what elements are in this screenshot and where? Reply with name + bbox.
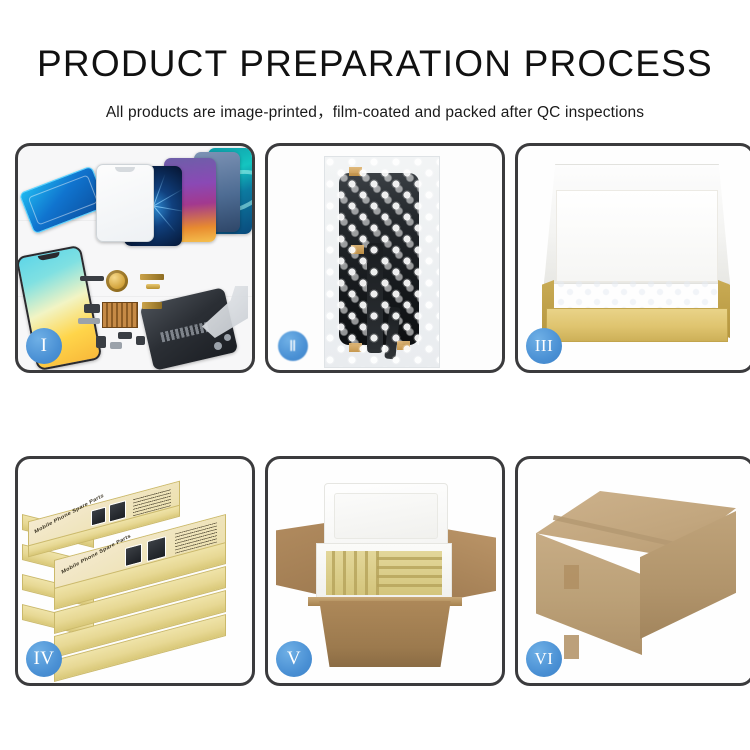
carton-tape-bottom-icon	[564, 635, 579, 659]
step-badge-1: I	[26, 328, 62, 364]
step-panel-2: Ⅱ	[265, 143, 505, 373]
adhesive-film-icon	[19, 165, 108, 234]
page-subtitle: All products are image-printed，film-coat…	[0, 82, 750, 122]
carton-left-face-icon	[536, 533, 642, 655]
tempered-glass-icon	[96, 164, 154, 242]
step-panel-1: I	[15, 143, 255, 373]
step-badge-6: VI	[526, 641, 562, 677]
mailer-box-front-icon	[546, 308, 728, 342]
foam-sheet-icon	[556, 190, 718, 282]
speaker-coil-icon	[106, 270, 128, 292]
yellow-boxes-inside-icon	[326, 551, 442, 595]
page-title: PRODUCT PREPARATION PROCESS	[0, 0, 750, 82]
chip-array-icon	[102, 302, 138, 328]
foam-lid-icon	[324, 483, 448, 549]
process-steps-grid: I Ⅱ	[15, 143, 735, 728]
step-badge-4: IV	[26, 641, 62, 677]
bubble-wrap-pouch-icon	[324, 156, 440, 368]
product-preparation-process-page: PRODUCT PREPARATION PROCESS All products…	[0, 0, 750, 750]
step-panel-3: III	[515, 143, 750, 373]
carton-front-icon	[312, 601, 458, 667]
antistatic-bubble-padding-icon	[556, 280, 718, 310]
page-header: PRODUCT PREPARATION PROCESS All products…	[0, 0, 750, 122]
step-panel-5: V	[265, 456, 505, 686]
step-badge-3: III	[526, 328, 562, 364]
step-panel-6: VI	[515, 456, 750, 686]
step-badge-5: V	[276, 641, 312, 677]
step-badge-2: Ⅱ	[278, 331, 308, 361]
step-panel-4: Mobile Phone Spare Parts Mobile Phone Sp…	[15, 456, 255, 686]
carton-tape-top-icon	[564, 565, 579, 589]
